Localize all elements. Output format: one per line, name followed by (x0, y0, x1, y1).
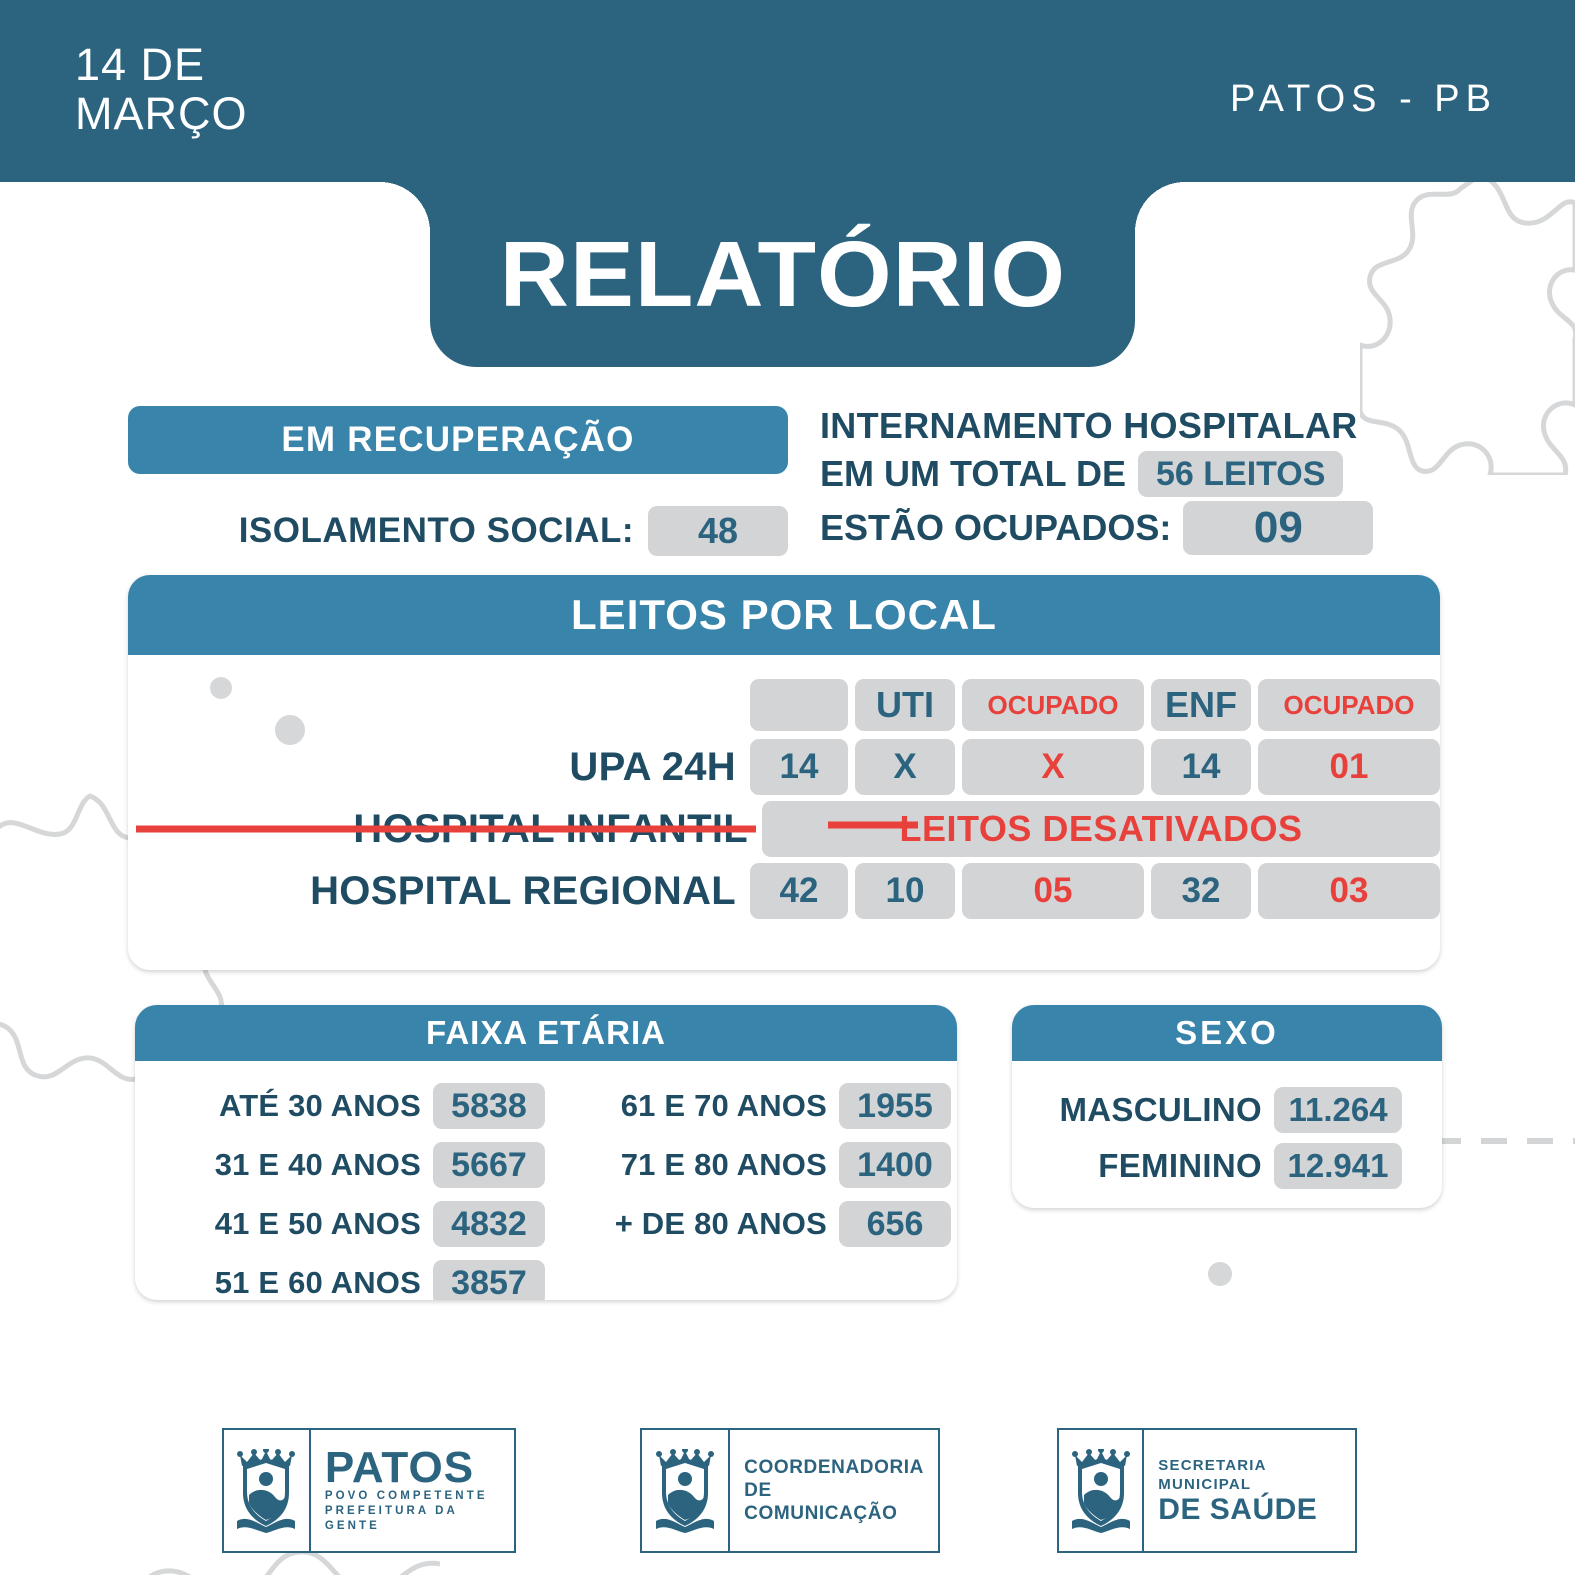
table-row: UPA 24H 14 X X 14 01 (128, 739, 1440, 795)
strikethrough-line (136, 826, 756, 833)
sex-label-masculino: MASCULINO (1059, 1091, 1262, 1129)
age-groups-column-right: 61 E 70 ANOS 1955 71 E 80 ANOS 1400 + DE… (569, 1083, 951, 1300)
recovery-badge-label: EM RECUPERAÇÃO (281, 420, 634, 460)
table-row: HOSPITAL REGIONAL 42 10 05 32 03 (128, 863, 1440, 919)
logo-coordenadoria-line-2: DE COMUNICAÇÃO (744, 1479, 924, 1525)
logo-coordenadoria-text: COORDENADORIA DE COMUNICAÇÃO (730, 1430, 938, 1551)
top-banner: 14 DE MARÇO PATOS - PB (0, 0, 1575, 182)
sex-label-feminino: FEMININO (1098, 1147, 1262, 1185)
age-group-value: 1400 (839, 1142, 951, 1188)
decorative-dot (1208, 1262, 1232, 1286)
title-tab-curl-right (1135, 182, 1185, 232)
age-group-label: 61 E 70 ANOS (569, 1088, 827, 1124)
hospitalization-total-row: EM UM TOTAL DE 56 LEITOS (820, 451, 1440, 497)
logo-patos-tagline-2: PREFEITURA DA GENTE (325, 1504, 500, 1534)
row-cells-hospital-infantil: LEITOS DESATIVADOS (762, 801, 1440, 857)
age-groups-header: FAIXA ETÁRIA (135, 1005, 957, 1061)
cell-enf: 14 (1151, 739, 1251, 795)
isolation-row: ISOLAMENTO SOCIAL: 48 (128, 505, 788, 557)
city-label: PATOS - PB (1230, 78, 1497, 121)
age-group-value: 656 (839, 1201, 951, 1247)
sex-body: MASCULINO 11.264 FEMININO 12.941 (1012, 1061, 1442, 1189)
hospitalization-block: INTERNAMENTO HOSPITALAR EM UM TOTAL DE 5… (820, 405, 1440, 555)
list-item: 51 E 60 ANOS 3857 (157, 1260, 545, 1300)
cell-enf: 32 (1151, 863, 1251, 919)
report-page: 14 DE MARÇO PATOS - PB RELATÓRIO EM RECU… (0, 0, 1575, 1575)
cell-total: 14 (750, 739, 848, 795)
row-label-hospital-regional: HOSPITAL REGIONAL (128, 869, 750, 914)
isolation-label: ISOLAMENTO SOCIAL: (239, 511, 634, 551)
age-group-label: 31 E 40 ANOS (157, 1147, 421, 1183)
cell-uti-ocupado: X (962, 739, 1144, 795)
sex-value-masculino: 11.264 (1274, 1087, 1402, 1133)
col-header-enf-ocupado: OCUPADO (1258, 679, 1440, 731)
age-group-value: 1955 (839, 1083, 951, 1129)
logo-secretaria-line-1: SECRETARIA MUNICIPAL (1158, 1456, 1341, 1494)
coat-of-arms-icon (224, 1430, 311, 1551)
row-label-hospital-infantil: HOSPITAL INFANTIL (128, 807, 762, 852)
cell-uti: 10 (855, 863, 955, 919)
row-cells-upa: 14 X X 14 01 (750, 739, 1440, 795)
sex-value-feminino: 12.941 (1274, 1143, 1402, 1189)
age-group-value: 5667 (433, 1142, 545, 1188)
logo-prefeitura-text: PATOS POVO COMPETENTE PREFEITURA DA GENT… (311, 1430, 514, 1551)
sex-header: SEXO (1012, 1005, 1442, 1061)
list-item: 61 E 70 ANOS 1955 (569, 1083, 951, 1129)
beds-by-location-body: UTI OCUPADO ENF OCUPADO UPA 24H 14 X X 1… (128, 655, 1440, 970)
age-groups-column-left: ATÉ 30 ANOS 5838 31 E 40 ANOS 5667 41 E … (157, 1083, 545, 1300)
list-item: 31 E 40 ANOS 5667 (157, 1142, 545, 1188)
title-tab-curl-left (380, 182, 430, 232)
hospitalization-title: INTERNAMENTO HOSPITALAR (820, 405, 1440, 447)
coat-of-arms-icon (1059, 1430, 1144, 1551)
age-group-label: 51 E 60 ANOS (157, 1265, 421, 1300)
list-item: 71 E 80 ANOS 1400 (569, 1142, 951, 1188)
logo-secretaria-line-2: DE SAÚDE (1158, 1494, 1317, 1526)
beds-by-location-card: LEITOS POR LOCAL UTI OCUPADO ENF OCUPADO (128, 575, 1440, 970)
footer-logos: PATOS POVO COMPETENTE PREFEITURA DA GENT… (0, 1428, 1575, 1553)
cell-total: 42 (750, 863, 848, 919)
col-header-enf: ENF (1151, 679, 1251, 731)
beds-by-location-header: LEITOS POR LOCAL (128, 575, 1440, 655)
logo-secretaria-saude: SECRETARIA MUNICIPAL DE SAÚDE (1057, 1428, 1357, 1553)
coat-of-arms-icon (642, 1430, 730, 1551)
hospitalization-occupied-label: ESTÃO OCUPADOS: (820, 507, 1171, 549)
age-groups-title: FAIXA ETÁRIA (426, 1014, 666, 1052)
age-groups-card: FAIXA ETÁRIA ATÉ 30 ANOS 5838 31 E 40 AN… (135, 1005, 957, 1300)
cell-uti: X (855, 739, 955, 795)
row-label-upa: UPA 24H (128, 745, 750, 790)
hospitalization-occupied-row: ESTÃO OCUPADOS: 09 (820, 501, 1440, 555)
age-group-value: 5838 (433, 1083, 545, 1129)
list-item: FEMININO 12.941 (1098, 1143, 1402, 1189)
age-groups-body: ATÉ 30 ANOS 5838 31 E 40 ANOS 5667 41 E … (135, 1061, 957, 1300)
strikethrough-line-extension (828, 822, 918, 829)
list-item: ATÉ 30 ANOS 5838 (157, 1083, 545, 1129)
col-header-uti: UTI (855, 679, 955, 731)
decorative-dashes (1435, 1138, 1575, 1144)
row-cells-hospital-regional: 42 10 05 32 03 (750, 863, 1440, 919)
recovery-badge: EM RECUPERAÇÃO (128, 406, 788, 474)
list-item: MASCULINO 11.264 (1059, 1087, 1402, 1133)
beds-by-location-title: LEITOS POR LOCAL (571, 591, 997, 639)
logo-secretaria-text: SECRETARIA MUNICIPAL DE SAÚDE (1144, 1430, 1355, 1551)
col-header-uti-ocupado: OCUPADO (962, 679, 1144, 731)
sex-title: SEXO (1175, 1014, 1279, 1052)
col-header-blank (750, 679, 848, 731)
age-group-value: 4832 (433, 1201, 545, 1247)
report-date: 14 DE MARÇO (75, 40, 248, 138)
cell-enf-ocupado: 01 (1258, 739, 1440, 795)
cell-enf-ocupado: 03 (1258, 863, 1440, 919)
logo-prefeitura-patos: PATOS POVO COMPETENTE PREFEITURA DA GENT… (222, 1428, 516, 1553)
sex-card: SEXO MASCULINO 11.264 FEMININO 12.941 (1012, 1005, 1442, 1208)
age-group-value: 3857 (433, 1260, 545, 1300)
logo-coordenadoria-comunicacao: COORDENADORIA DE COMUNICAÇÃO (640, 1428, 940, 1553)
age-group-label: + DE 80 ANOS (569, 1206, 827, 1242)
page-title: RELATÓRIO (499, 228, 1065, 321)
isolation-value: 48 (648, 506, 788, 556)
age-group-label: 41 E 50 ANOS (157, 1206, 421, 1242)
page-title-tab: RELATÓRIO (430, 182, 1135, 367)
list-item: + DE 80 ANOS 656 (569, 1201, 951, 1247)
age-group-label: ATÉ 30 ANOS (157, 1088, 421, 1124)
age-group-label: 71 E 80 ANOS (569, 1147, 827, 1183)
logo-patos-tagline-1: POVO COMPETENTE (325, 1489, 488, 1504)
table-row: HOSPITAL INFANTIL LEITOS DESATIVADOS (128, 801, 1440, 857)
hospitalization-occupied-value: 09 (1183, 501, 1373, 555)
cell-uti-ocupado: 05 (962, 863, 1144, 919)
cell-beds-deactivated-note: LEITOS DESATIVADOS (762, 801, 1440, 857)
logo-patos-wordmark: PATOS (325, 1447, 474, 1489)
table-header-row: UTI OCUPADO ENF OCUPADO (128, 677, 1440, 733)
hospitalization-total-value: 56 LEITOS (1138, 451, 1343, 497)
table-header-cells: UTI OCUPADO ENF OCUPADO (750, 679, 1440, 731)
list-item: 41 E 50 ANOS 4832 (157, 1201, 545, 1247)
hospitalization-total-label: EM UM TOTAL DE (820, 453, 1126, 495)
beds-table: UTI OCUPADO ENF OCUPADO UPA 24H 14 X X 1… (128, 677, 1440, 925)
logo-coordenadoria-line-1: COORDENADORIA (744, 1456, 924, 1479)
